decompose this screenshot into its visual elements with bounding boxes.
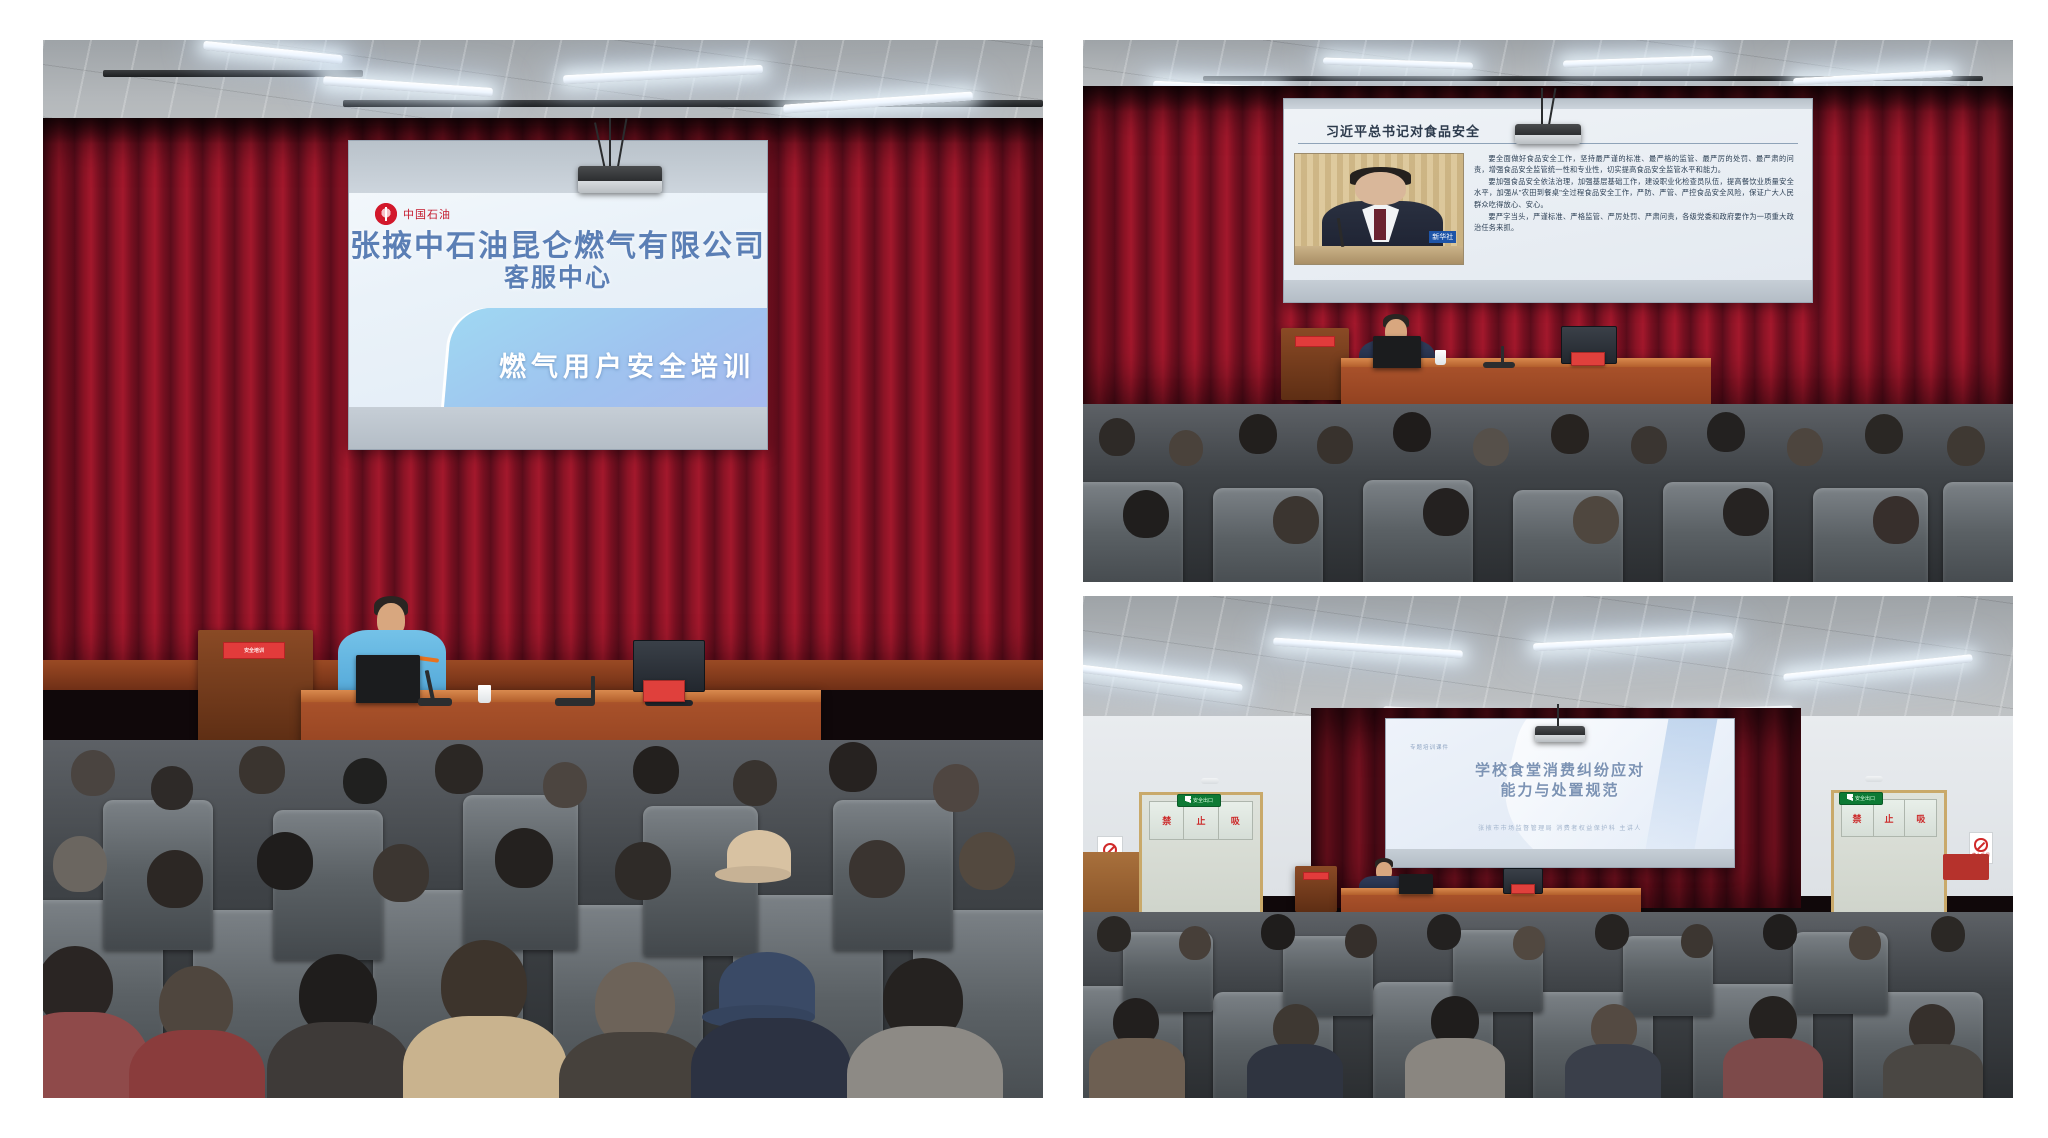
audience-head xyxy=(1423,488,1469,536)
audience-head xyxy=(1123,490,1169,538)
door-glass-char-1: 禁 xyxy=(1150,802,1184,839)
exit-sign-left: 安全出口 xyxy=(1177,794,1221,807)
audience-head xyxy=(1849,926,1881,960)
portrait-desk xyxy=(1295,246,1463,264)
audience-head xyxy=(239,746,285,794)
screen-bottom-band xyxy=(349,407,767,449)
audience-shoulders xyxy=(559,1032,711,1098)
audience-head xyxy=(1787,428,1823,466)
slide-banner-title: 燃气用户安全培训 xyxy=(499,345,755,384)
audience-head xyxy=(1473,428,1509,466)
audience-area-tr xyxy=(1083,404,2013,582)
slide-br-title-line-1: 学校食堂消费纠纷应对 xyxy=(1386,761,1734,781)
audience-head xyxy=(1513,926,1545,960)
projector-cable-1 xyxy=(609,118,611,170)
podium-sign: 安全培训 xyxy=(223,642,285,659)
audience-head xyxy=(257,832,313,890)
slide-br-title: 学校食堂消费纠纷应对 能力与处置规范 xyxy=(1386,761,1734,802)
audience-head xyxy=(495,828,553,888)
audience-head xyxy=(373,844,429,902)
audience-head xyxy=(1763,914,1797,950)
microphone-base-main xyxy=(418,698,452,706)
slide-organization: 张掖中石油昆仑燃气有限公司 客服中心 xyxy=(349,229,767,294)
audience-head xyxy=(1099,418,1135,456)
screen-top-band-tr xyxy=(1284,99,1812,109)
stage-front-wall xyxy=(43,660,1043,690)
audience-head xyxy=(959,832,1015,890)
audience-shoulders xyxy=(129,1030,265,1098)
desk-placard-main xyxy=(643,680,685,702)
audience-shoulders xyxy=(1723,1038,1823,1098)
screen-bottom-band-br xyxy=(1386,849,1734,867)
photo-collage: 中国石油 张掖中石油昆仑燃气有限公司 客服中心 燃气用户安全培训 主讲人：张军 … xyxy=(0,0,2048,1138)
seat xyxy=(1943,482,2013,582)
petrochina-logo: 中国石油 xyxy=(375,203,451,225)
audience-shoulders xyxy=(691,1018,851,1098)
microphone-2-base-main xyxy=(555,698,595,706)
petrochina-logo-text: 中国石油 xyxy=(403,206,451,222)
running-man-icon-right xyxy=(1847,794,1853,803)
audience-head xyxy=(53,836,107,892)
door-glass-char-2-right: 止 xyxy=(1874,800,1906,836)
audience-head xyxy=(435,744,483,794)
microphone-base-tr xyxy=(1483,362,1515,368)
audience-head xyxy=(849,840,905,898)
audience-head xyxy=(733,760,777,806)
desk-surface-br xyxy=(1341,888,1641,895)
audience-head xyxy=(543,762,587,808)
audience-head xyxy=(1317,426,1353,464)
portrait-head xyxy=(1355,172,1405,205)
smoke-detector-icon-right xyxy=(1865,776,1883,782)
org-line-1: 张掖中石油昆仑燃气有限公司 xyxy=(349,229,767,264)
slide-tr-paragraph-2: 要加强食品安全依法治理，加强基层基础工作，建设职业化检查员队伍，提高餐饮业质量安… xyxy=(1474,176,1794,209)
panel-main-photo: 中国石油 张掖中石油昆仑燃气有限公司 客服中心 燃气用户安全培训 主讲人：张军 … xyxy=(43,40,1043,1098)
desk-placard-tr xyxy=(1571,352,1605,366)
exit-sign-right: 安全出口 xyxy=(1839,792,1883,805)
audience-head xyxy=(633,746,679,794)
no-smoking-icon-right xyxy=(1974,838,1987,851)
exit-door-left: 禁 止 吸 xyxy=(1139,792,1263,920)
audience-head xyxy=(829,742,877,792)
audience-head xyxy=(147,850,203,908)
laptop-br xyxy=(1399,874,1433,894)
audience-head xyxy=(933,764,979,812)
audience-shoulders xyxy=(267,1022,411,1098)
audience-head xyxy=(1723,488,1769,536)
news-agency-badge: 新华社 xyxy=(1429,231,1456,243)
projection-screen-main: 中国石油 张掖中石油昆仑燃气有限公司 客服中心 燃气用户安全培训 主讲人：张军 xyxy=(348,140,768,450)
audience-head xyxy=(1573,496,1619,544)
screen-bottom-band-tr xyxy=(1284,280,1812,302)
org-line-2: 客服中心 xyxy=(349,264,767,294)
desk-placard-br xyxy=(1511,884,1535,894)
audience-head xyxy=(1239,414,1277,454)
audience-head xyxy=(1169,430,1203,466)
audience-cap-beige xyxy=(727,830,791,878)
podium-sign-br xyxy=(1303,872,1329,880)
slide-br-kicker: 专题培训课件 xyxy=(1410,743,1449,751)
audience-head xyxy=(1345,924,1377,958)
audience-head xyxy=(71,750,115,796)
audience-head xyxy=(1427,914,1461,950)
door-glass-char-2: 止 xyxy=(1184,802,1218,839)
projector-icon xyxy=(578,166,662,193)
door-glass-char-3: 吸 xyxy=(1219,802,1252,839)
petrochina-mark-icon xyxy=(375,203,397,225)
slide-tr-paragraph-1: 要全面做好食品安全工作，坚持最严谨的标准、最严格的监管、最严厉的处罚、最严肃的问… xyxy=(1474,153,1794,175)
audience-area-main xyxy=(43,740,1043,1098)
slide-br-subtitle: 张掖市市场监督管理局 消费者权益保护科 主讲人 xyxy=(1386,823,1734,832)
portrait-tie xyxy=(1374,209,1386,240)
audience-head xyxy=(615,842,671,900)
laptop-tr xyxy=(1373,336,1421,368)
audience-head xyxy=(1931,916,1965,952)
podium-sign-text: 安全培训 xyxy=(244,647,264,654)
audience-head xyxy=(1179,926,1211,960)
projector-icon-br xyxy=(1535,726,1585,742)
audience-shoulders xyxy=(847,1026,1003,1098)
paper-cup-main xyxy=(478,685,491,703)
slide-gas-safety: 中国石油 张掖中石油昆仑燃气有限公司 客服中心 燃气用户安全培训 主讲人：张军 xyxy=(349,193,767,407)
screen-top-band xyxy=(349,141,767,193)
audience-shoulders xyxy=(1883,1044,1983,1098)
laptop-main xyxy=(356,655,420,703)
slide-tr-portrait-photo: 新华社 xyxy=(1294,153,1464,265)
smoke-detector-icon xyxy=(1201,778,1219,784)
audience-shoulders xyxy=(1247,1044,1343,1098)
audience-head xyxy=(1681,924,1713,958)
exit-door-right: 禁 止 吸 xyxy=(1831,790,1947,916)
audience-head xyxy=(1393,412,1431,452)
audience-head xyxy=(1097,916,1131,952)
slide-br-title-line-2: 能力与处置规范 xyxy=(1386,781,1734,801)
audience-head xyxy=(1947,426,1985,466)
audience-shoulders xyxy=(1405,1038,1505,1098)
audience-shoulders xyxy=(403,1016,567,1098)
slide-tr-title: 习近平总书记对食品安全 xyxy=(1326,121,1480,140)
projector-icon-tr xyxy=(1515,124,1581,144)
audience-head xyxy=(1631,426,1667,464)
audience-cap-navy xyxy=(719,952,815,1022)
door-glass-char-3-right: 吸 xyxy=(1905,800,1936,836)
wooden-cabinet-left xyxy=(1083,852,1139,914)
audience-head xyxy=(1707,412,1745,452)
audience-head xyxy=(1595,914,1629,950)
door-glass-char-1-right: 禁 xyxy=(1842,800,1874,836)
podium-sign-tr xyxy=(1295,336,1335,347)
audience-head xyxy=(1873,496,1919,544)
audience-head xyxy=(1261,914,1295,950)
audience-head xyxy=(1551,414,1589,454)
audience-head xyxy=(151,766,193,810)
audience-head xyxy=(343,758,387,804)
exit-sign-text-right: 安全出口 xyxy=(1855,795,1875,802)
slide-tr-paragraph-3: 要严字当头，严谨标准、严格监管、严厉处罚、严肃问责，各级党委和政府要作为一项重大… xyxy=(1474,211,1794,233)
panel-bottom-right-photo: 专题培训课件 学校食堂消费纠纷应对 能力与处置规范 张掖市市场监督管理局 消费者… xyxy=(1083,596,2013,1098)
audience-shoulders xyxy=(1089,1038,1185,1098)
audience-head xyxy=(1273,496,1319,544)
projector-cable-tr-1 xyxy=(1541,88,1543,128)
slide-tr-body-text: 要全面做好食品安全工作，坚持最严谨的标准、最严格的监管、最严厉的处罚、最严肃的问… xyxy=(1474,153,1794,234)
fire-equipment-box xyxy=(1943,854,1989,880)
exit-sign-text-left: 安全出口 xyxy=(1193,797,1213,804)
audience-shoulders xyxy=(1565,1044,1661,1098)
paper-cup-tr xyxy=(1435,350,1446,365)
audience-head xyxy=(1865,414,1903,454)
panel-top-right-photo: 习近平总书记对食品安全 新华社 要全面做好食品安全工作，坚持最严谨的标准、最严格… xyxy=(1083,40,2013,582)
running-man-icon xyxy=(1185,796,1191,805)
audience-area-br xyxy=(1083,912,2013,1098)
